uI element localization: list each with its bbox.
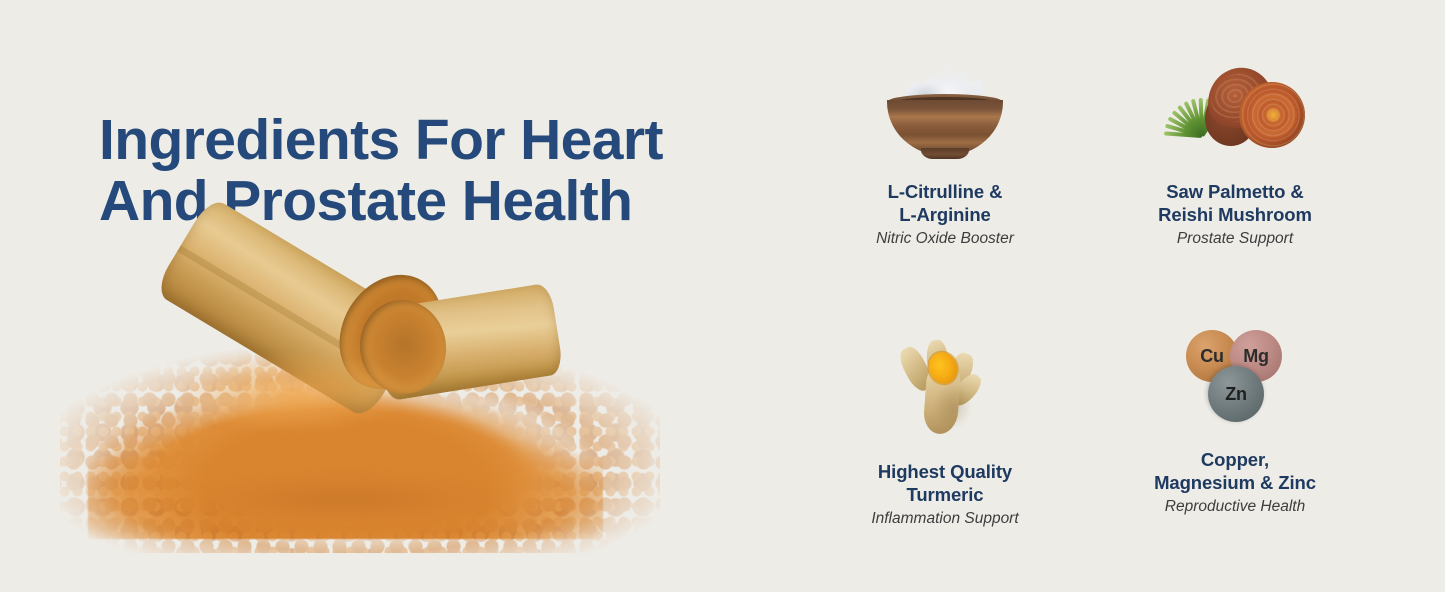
turmeric-powder-photo xyxy=(60,228,660,568)
ingredient-benefit: Prostate Support xyxy=(1110,229,1360,248)
ingredient-card-turmeric: Highest Quality Turmeric Inflammation Su… xyxy=(820,338,1070,528)
bowl-icon-group xyxy=(885,64,1005,156)
ingredient-title: Copper, Magnesium & Zinc xyxy=(1110,448,1360,494)
mineral-pills-group: Cu Mg Zn xyxy=(1180,326,1290,426)
reishi-cap-front-rings xyxy=(1239,82,1305,148)
ingredient-benefit: Nitric Oxide Booster xyxy=(820,229,1070,248)
page-title: Ingredients For Heart And Prostate Healt… xyxy=(99,110,699,232)
turmeric-root-group xyxy=(897,338,993,438)
zinc-pill: Zn xyxy=(1208,366,1264,422)
ingredient-card-l-citrulline-l-arginine: L-Citrulline & L-Arginine Nitric Oxide B… xyxy=(820,58,1070,248)
ingredient-title: L-Citrulline & L-Arginine xyxy=(820,180,1070,226)
ingredient-title: Saw Palmetto & Reishi Mushroom xyxy=(1110,180,1360,226)
bowl-of-powder-icon xyxy=(820,58,1070,163)
ingredient-card-minerals: Cu Mg Zn Copper, Magnesium & Zinc Reprod… xyxy=(1110,326,1360,516)
ingredient-card-saw-palmetto-reishi: Saw Palmetto & Reishi Mushroom Prostate … xyxy=(1110,58,1360,248)
mineral-pills-icon: Cu Mg Zn xyxy=(1110,326,1360,431)
ingredient-benefit: Inflammation Support xyxy=(820,509,1070,528)
bowl-foot xyxy=(921,148,969,159)
saw-palmetto-reishi-group xyxy=(1165,60,1305,160)
ingredient-grid: L-Citrulline & L-Arginine Nitric Oxide B… xyxy=(820,58,1380,558)
powder-photo-stage xyxy=(60,228,660,568)
saw-palmetto-reishi-icon xyxy=(1110,58,1360,163)
ingredient-title: Highest Quality Turmeric xyxy=(820,460,1070,506)
hero-left-column: Ingredients For Heart And Prostate Healt… xyxy=(0,0,700,592)
powder-heap-highlight xyxy=(156,348,486,468)
ingredient-benefit: Reproductive Health xyxy=(1110,497,1360,516)
turmeric-root-icon xyxy=(820,338,1070,443)
